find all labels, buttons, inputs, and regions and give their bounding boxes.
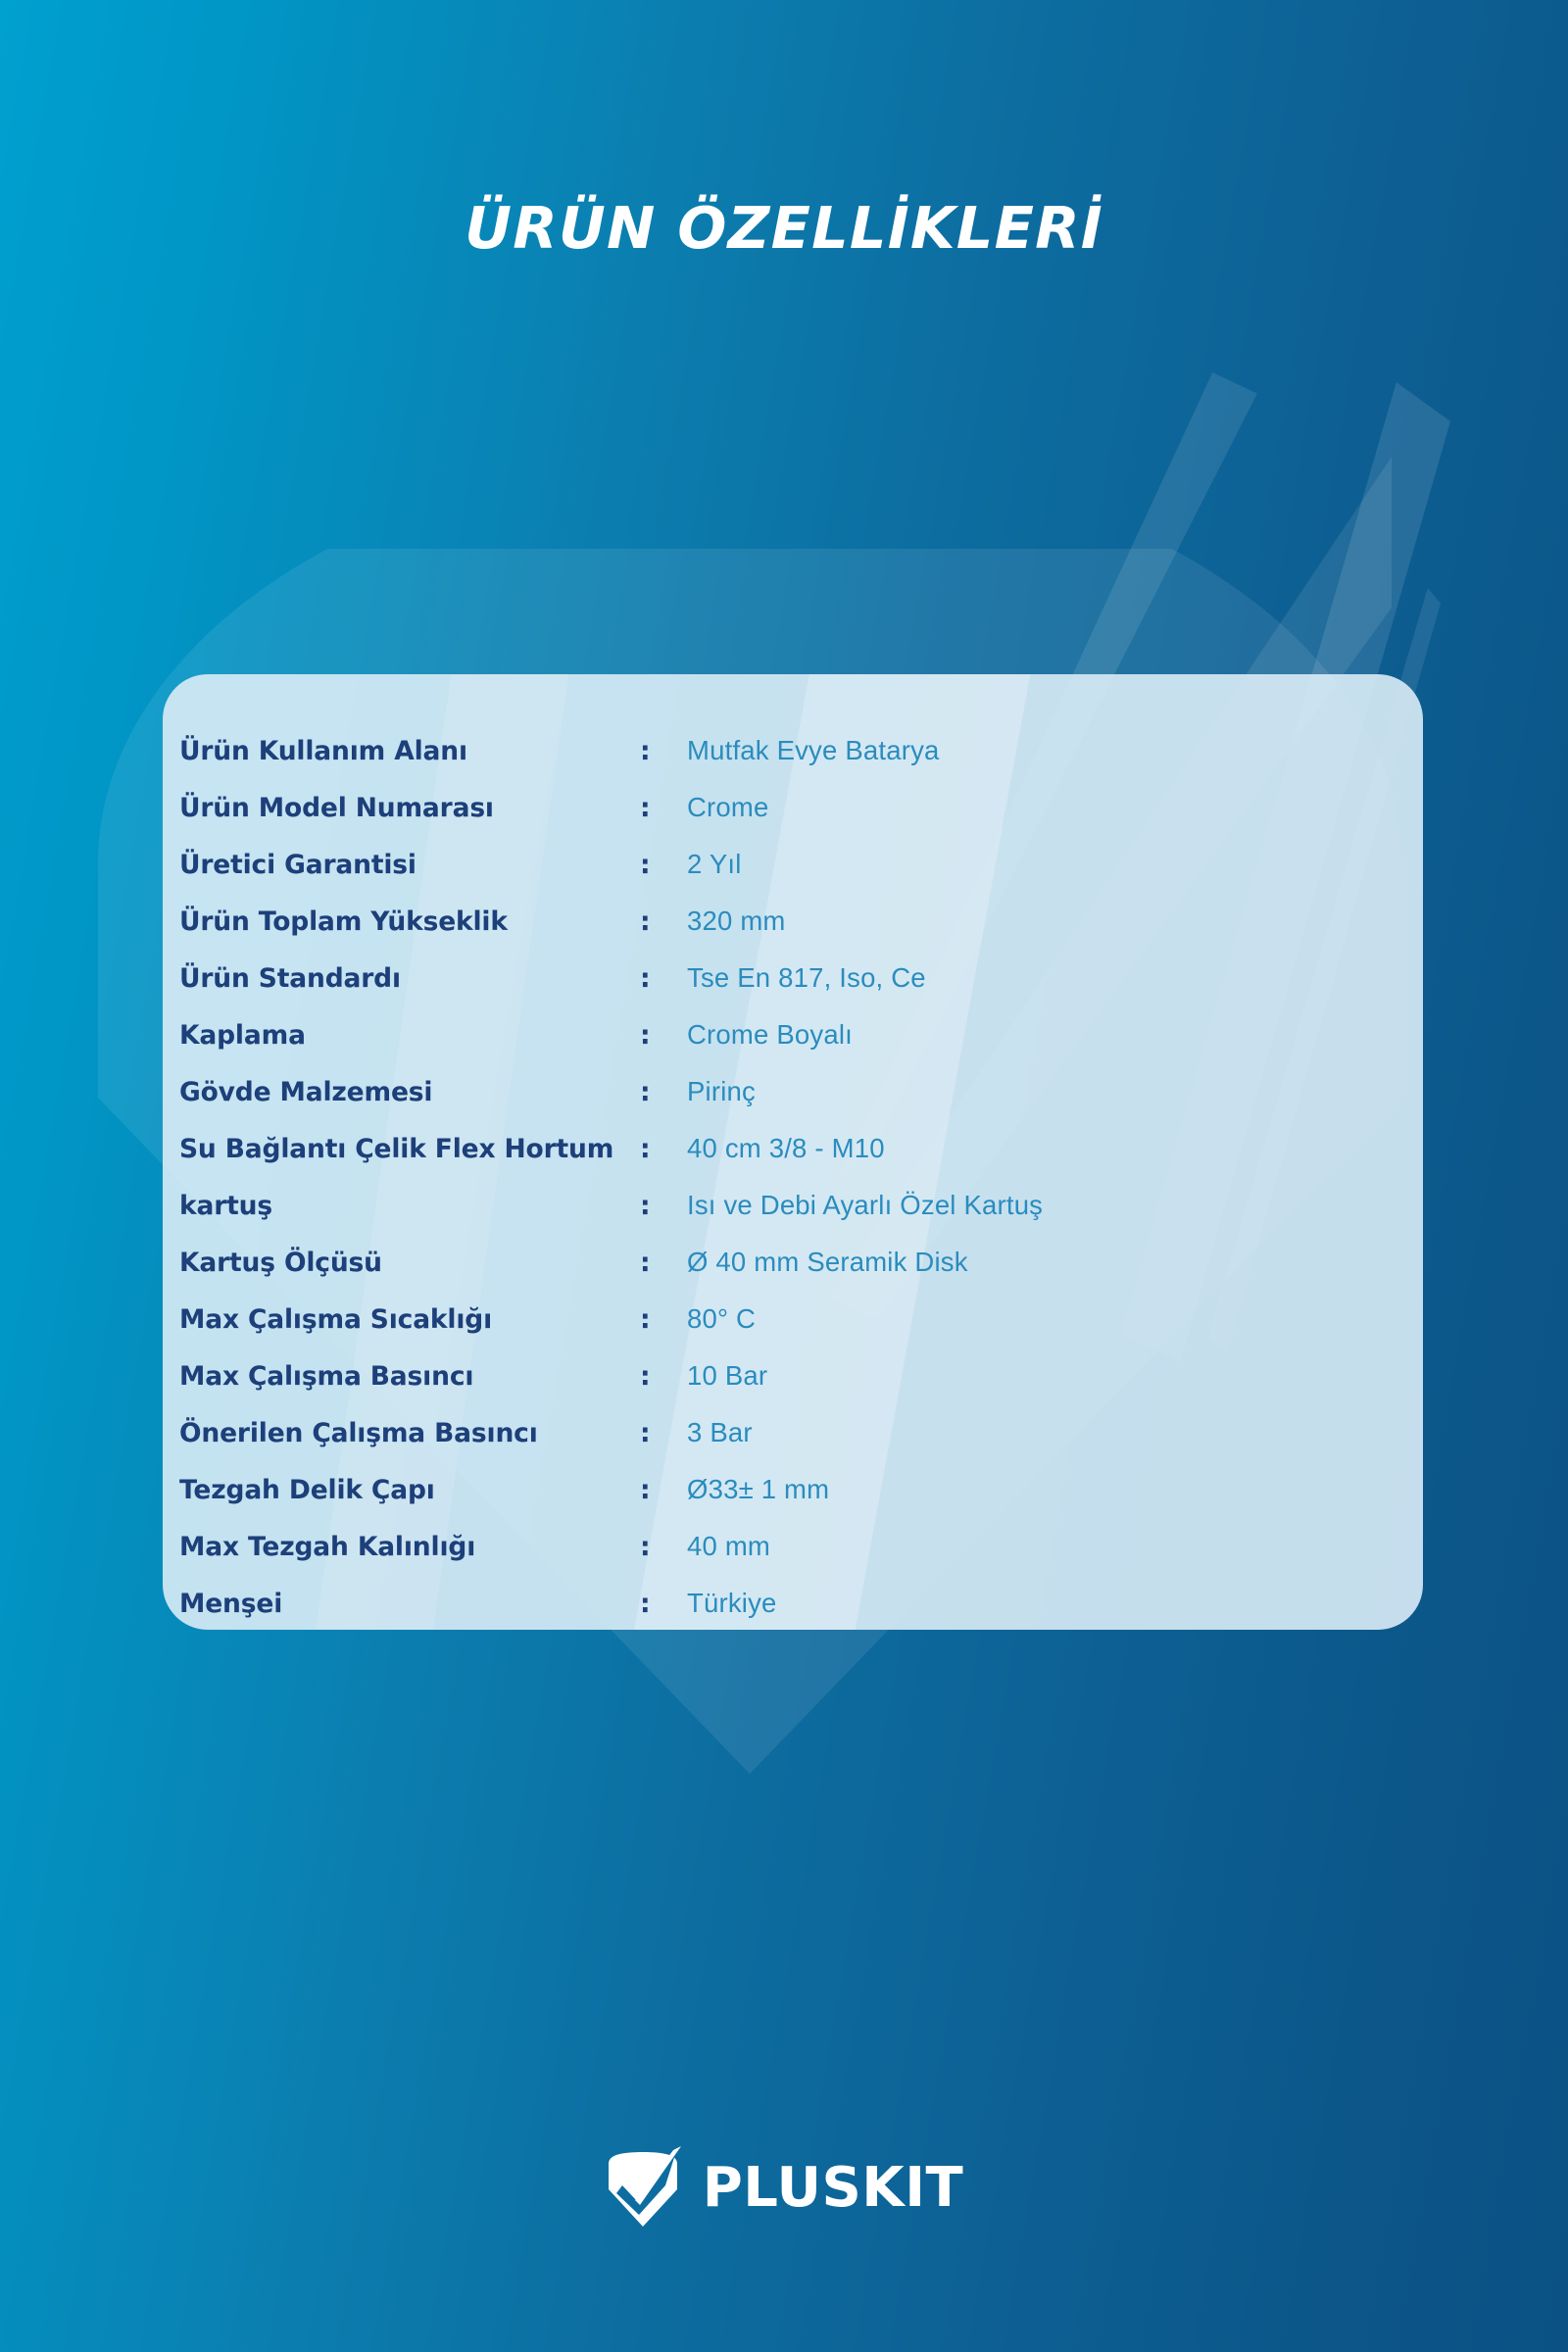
- spec-value: Ø 40 mm Seramik Disk: [687, 1247, 1423, 1278]
- spec-value: 3 Bar: [687, 1417, 1423, 1448]
- spec-label: Su Bağlantı Çelik Flex Hortum: [179, 1134, 640, 1164]
- spec-label: Ürün Kullanım Alanı: [179, 736, 640, 766]
- spec-label: kartuş: [179, 1191, 640, 1221]
- spec-label: Max Çalışma Basıncı: [179, 1361, 640, 1392]
- spec-value: 320 mm: [687, 906, 1423, 937]
- spec-row: Üretici Garantisi:2 Yıl: [163, 849, 1423, 906]
- spec-separator: :: [640, 1532, 687, 1562]
- spec-row: Su Bağlantı Çelik Flex Hortum:40 cm 3/8 …: [163, 1133, 1423, 1190]
- spec-row: Kaplama:Crome Boyalı: [163, 1019, 1423, 1076]
- spec-row: Menşei:Türkiye: [163, 1588, 1423, 1630]
- footer-brand-logo: PLUSKIT: [0, 2146, 1568, 2230]
- spec-label: Önerilen Çalışma Basıncı: [179, 1418, 640, 1448]
- spec-card: Ürün Kullanım Alanı:Mutfak Evye BataryaÜ…: [163, 674, 1423, 1630]
- spec-separator: :: [640, 906, 687, 937]
- spec-separator: :: [640, 736, 687, 766]
- spec-row: Gövde Malzemesi:Pirinç: [163, 1076, 1423, 1133]
- spec-separator: :: [640, 1418, 687, 1448]
- spec-separator: :: [640, 1304, 687, 1335]
- spec-value: 40 cm 3/8 - M10: [687, 1133, 1423, 1164]
- spec-row: Ürün Toplam Yükseklik:320 mm: [163, 906, 1423, 962]
- spec-row: Max Çalışma Sıcaklığı:80° C: [163, 1303, 1423, 1360]
- spec-value: Mutfak Evye Batarya: [687, 735, 1423, 766]
- spec-value: 10 Bar: [687, 1360, 1423, 1392]
- spec-separator: :: [640, 1134, 687, 1164]
- spec-value: Tse En 817, Iso, Ce: [687, 962, 1423, 994]
- product-spec-poster: ÜRÜN ÖZELLİKLERİ Ürün Kullanım Alanı:Mut…: [0, 0, 1568, 2352]
- spec-label: Max Çalışma Sıcaklığı: [179, 1304, 640, 1335]
- spec-separator: :: [640, 1191, 687, 1221]
- spec-value: Ø33± 1 mm: [687, 1474, 1423, 1505]
- spec-row: Tezgah Delik Çapı:Ø33± 1 mm: [163, 1474, 1423, 1531]
- spec-row: Önerilen Çalışma Basıncı:3 Bar: [163, 1417, 1423, 1474]
- spec-separator: :: [640, 1020, 687, 1051]
- spec-row: kartuş:Isı ve Debi Ayarlı Özel Kartuş: [163, 1190, 1423, 1247]
- spec-row: Ürün Kullanım Alanı:Mutfak Evye Batarya: [163, 735, 1423, 792]
- spec-value: Türkiye: [687, 1588, 1423, 1619]
- spec-label: Kaplama: [179, 1020, 640, 1051]
- spec-separator: :: [640, 1589, 687, 1619]
- spec-label: Menşei: [179, 1589, 640, 1619]
- spec-row: Kartuş Ölçüsü:Ø 40 mm Seramik Disk: [163, 1247, 1423, 1303]
- spec-label: Ürün Standardı: [179, 963, 640, 994]
- spec-value: 2 Yıl: [687, 849, 1423, 880]
- page-title: ÜRÜN ÖZELLİKLERİ: [0, 194, 1568, 262]
- spec-row: Max Tezgah Kalınlığı:40 mm: [163, 1531, 1423, 1588]
- spec-label: Ürün Toplam Yükseklik: [179, 906, 640, 937]
- spec-value: 80° C: [687, 1303, 1423, 1335]
- spec-separator: :: [640, 1361, 687, 1392]
- spec-label: Gövde Malzemesi: [179, 1077, 640, 1107]
- spec-table: Ürün Kullanım Alanı:Mutfak Evye BataryaÜ…: [163, 735, 1423, 1630]
- spec-label: Tezgah Delik Çapı: [179, 1475, 640, 1505]
- spec-value: Pirinç: [687, 1076, 1423, 1107]
- spec-row: Ürün Standardı:Tse En 817, Iso, Ce: [163, 962, 1423, 1019]
- spec-value: Crome: [687, 792, 1423, 823]
- spec-value: 40 mm: [687, 1531, 1423, 1562]
- spec-row: Ürün Model Numarası:Crome: [163, 792, 1423, 849]
- spec-value: Crome Boyalı: [687, 1019, 1423, 1051]
- spec-label: Kartuş Ölçüsü: [179, 1248, 640, 1278]
- shield-check-icon: [605, 2146, 681, 2230]
- spec-separator: :: [640, 793, 687, 823]
- spec-separator: :: [640, 850, 687, 880]
- spec-label: Max Tezgah Kalınlığı: [179, 1532, 640, 1562]
- spec-separator: :: [640, 1077, 687, 1107]
- brand-name: PLUSKIT: [703, 2161, 963, 2216]
- spec-separator: :: [640, 963, 687, 994]
- spec-row: Max Çalışma Basıncı:10 Bar: [163, 1360, 1423, 1417]
- spec-label: Ürün Model Numarası: [179, 793, 640, 823]
- spec-value: Isı ve Debi Ayarlı Özel Kartuş: [687, 1190, 1423, 1221]
- spec-label: Üretici Garantisi: [179, 850, 640, 880]
- spec-separator: :: [640, 1248, 687, 1278]
- spec-separator: :: [640, 1475, 687, 1505]
